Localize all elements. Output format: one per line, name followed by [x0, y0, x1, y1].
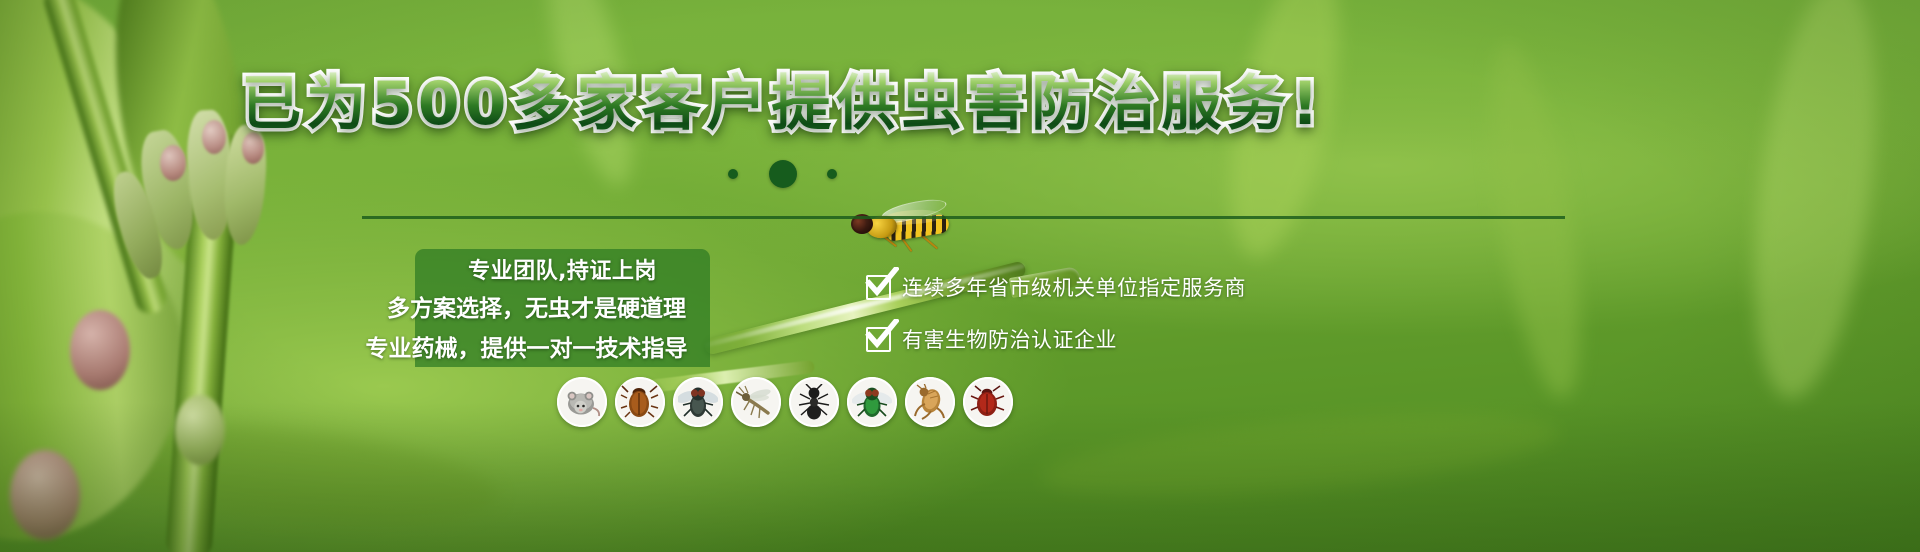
credentials-list: 连续多年省市级机关单位指定服务商 有害生物防治认证企业 — [866, 272, 1246, 376]
credential-label: 有害生物防治认证企业 — [902, 324, 1117, 354]
credential-label: 连续多年省市级机关单位指定服务商 — [902, 272, 1246, 302]
headline-fill: 已为500多家客户提供虫害防治服务! — [241, 69, 1324, 139]
promo-banner: 已为500多家客户提供虫害防治服务! 已为500多家客户提供虫害防治服务! 专业… — [0, 0, 1920, 552]
housefly-icon[interactable] — [673, 377, 723, 427]
ant-icon[interactable] — [789, 377, 839, 427]
dot-large-icon — [769, 160, 797, 188]
pest-icon-row — [557, 377, 1013, 427]
checkbox-checked-icon — [866, 275, 891, 300]
checkbox-checked-icon — [866, 327, 891, 352]
flea-icon[interactable] — [905, 377, 955, 427]
feature-line-3: 专业药械，提供一对一技术指导 — [343, 329, 710, 369]
rodent-icon[interactable] — [557, 377, 607, 427]
feature-line-1: 专业团队,持证上岗 — [415, 254, 710, 289]
mosquito-icon[interactable] — [731, 377, 781, 427]
dot-small-icon — [728, 169, 738, 179]
features-panel: 专业团队,持证上岗 多方案选择，无虫才是硬道理 专业药械，提供一对一技术指导 — [415, 249, 710, 367]
page-title: 已为500多家客户提供虫害防治服务! 已为500多家客户提供虫害防治服务! — [0, 74, 1565, 134]
dot-small-icon — [827, 169, 837, 179]
cockroach-icon[interactable] — [615, 377, 665, 427]
list-item: 连续多年省市级机关单位指定服务商 — [866, 272, 1246, 302]
divider — [362, 216, 1565, 219]
list-item: 有害生物防治认证企业 — [866, 324, 1246, 354]
blowfly-icon[interactable] — [847, 377, 897, 427]
feature-line-2: 多方案选择，无虫才是硬道理 — [363, 289, 710, 329]
bedbug-icon[interactable] — [963, 377, 1013, 427]
decorative-dots — [0, 160, 1565, 188]
